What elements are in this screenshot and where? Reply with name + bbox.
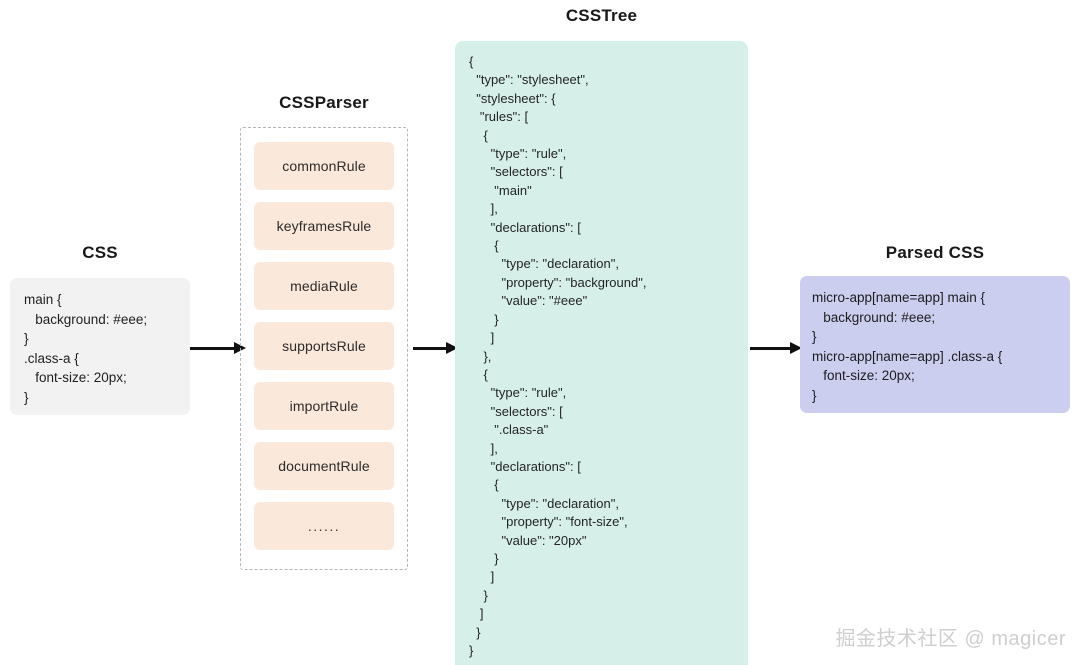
rule-chip-document: documentRule <box>254 442 394 490</box>
arrow-shaft <box>750 347 791 350</box>
rule-chip-more: ...... <box>254 502 394 550</box>
diagram-canvas: CSS main { background: #eee; } .class-a … <box>0 0 1080 665</box>
css-section-title: CSS <box>10 243 190 263</box>
cssparser-container: commonRule keyframesRule mediaRule suppo… <box>240 127 408 570</box>
css-source-code: main { background: #eee; } .class-a { fo… <box>24 290 176 407</box>
rule-chip-common: commonRule <box>254 142 394 190</box>
arrow-css-to-parser-icon <box>190 341 246 357</box>
rule-chip-keyframes: keyframesRule <box>254 202 394 250</box>
arrow-tree-to-parsed-icon <box>750 341 802 357</box>
arrow-shaft <box>190 347 235 350</box>
cssparser-section-title: CSSParser <box>240 93 408 113</box>
arrow-shaft <box>413 347 447 350</box>
arrow-parser-to-tree-icon <box>413 341 458 357</box>
csstree-json-box: { "type": "stylesheet", "stylesheet": { … <box>455 41 748 665</box>
csstree-section-title: CSSTree <box>455 6 748 26</box>
css-source-box: main { background: #eee; } .class-a { fo… <box>10 278 190 415</box>
rule-chip-supports: supportsRule <box>254 322 394 370</box>
rule-chip-media: mediaRule <box>254 262 394 310</box>
parsed-css-box: micro-app[name=app] main { background: #… <box>800 276 1070 413</box>
watermark-text: 掘金技术社区 @ magicer <box>835 622 1066 651</box>
rule-chip-import: importRule <box>254 382 394 430</box>
csstree-json-code: { "type": "stylesheet", "stylesheet": { … <box>469 53 734 660</box>
parsed-css-code: micro-app[name=app] main { background: #… <box>812 288 1058 405</box>
parsed-css-section-title: Parsed CSS <box>800 243 1070 263</box>
